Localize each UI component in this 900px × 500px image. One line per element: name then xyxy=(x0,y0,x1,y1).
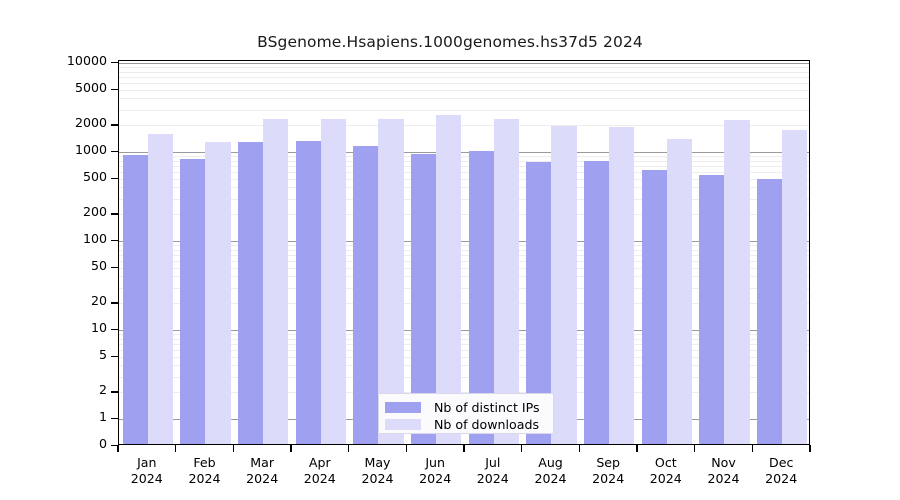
legend-label-downloads: Nb of downloads xyxy=(434,417,539,432)
legend-item-distinct-ips: Nb of distinct IPs xyxy=(385,399,553,415)
bar-group-mar xyxy=(238,61,288,444)
y-tick-mark xyxy=(111,240,118,241)
y-tick-mark xyxy=(111,124,118,125)
legend-item-downloads: Nb of downloads xyxy=(385,416,553,432)
y-tick-label: 2 xyxy=(99,382,107,397)
chart-legend: Nb of distinct IPs Nb of downloads xyxy=(378,393,554,434)
y-tick-label: 1000 xyxy=(75,142,107,157)
bar-downloads xyxy=(724,120,749,444)
bar-group-jan xyxy=(123,61,173,444)
y-tick-label: 20 xyxy=(91,293,107,308)
bar-distinct-ips xyxy=(757,179,782,444)
bar-group-sep xyxy=(584,61,634,444)
y-tick-mark xyxy=(111,178,118,179)
legend-swatch-icon-downloads xyxy=(385,419,421,430)
bar-downloads xyxy=(551,126,576,444)
bar-distinct-ips xyxy=(642,170,667,444)
bar-distinct-ips xyxy=(699,175,724,445)
bar-distinct-ips xyxy=(353,146,378,444)
bar-downloads xyxy=(782,130,807,444)
x-tick-label-month: Dec xyxy=(741,455,821,471)
y-tick-mark xyxy=(111,391,118,392)
x-tick-mark xyxy=(521,445,522,452)
x-tick-mark xyxy=(752,445,753,452)
bar-distinct-ips xyxy=(584,161,609,444)
bar-group-jul xyxy=(469,61,519,444)
x-tick-mark xyxy=(406,445,407,452)
chart-figure: BSgenome.Hsapiens.1000genomes.hs37d5 202… xyxy=(0,0,900,500)
bar-group-jun xyxy=(411,61,461,444)
bar-distinct-ips xyxy=(180,159,205,444)
y-tick-mark xyxy=(111,62,118,63)
y-tick-mark xyxy=(111,89,118,90)
plot-area xyxy=(118,60,810,445)
bar-downloads xyxy=(205,142,230,444)
x-tick-mark xyxy=(117,445,118,452)
bar-group-nov xyxy=(699,61,749,444)
x-tick-mark xyxy=(290,445,291,452)
x-axis: Jan2024Feb2024Mar2024Apr2024May2024Jun20… xyxy=(118,445,810,500)
bar-group-aug xyxy=(526,61,576,444)
legend-label-distinct-ips: Nb of distinct IPs xyxy=(434,400,540,415)
y-tick-label: 10 xyxy=(91,320,107,335)
bar-downloads xyxy=(667,139,692,444)
y-tick-label: 200 xyxy=(83,204,107,219)
x-tick-label-year: 2024 xyxy=(741,471,821,487)
y-tick-mark xyxy=(111,267,118,268)
page-title: BSgenome.Hsapiens.1000genomes.hs37d5 202… xyxy=(0,33,900,51)
x-tick-mark xyxy=(636,445,637,452)
bar-group-dec xyxy=(757,61,807,444)
y-tick-label: 2000 xyxy=(75,115,107,130)
y-tick-label: 5000 xyxy=(75,80,107,95)
bar-downloads xyxy=(263,119,288,444)
legend-swatch-icon-distinct-ips xyxy=(385,402,421,413)
x-tick-mark xyxy=(463,445,464,452)
x-tick-mark xyxy=(809,445,810,452)
y-tick-label: 500 xyxy=(83,169,107,184)
bar-downloads xyxy=(609,127,634,444)
bars-layer xyxy=(119,61,809,444)
y-tick-mark xyxy=(111,213,118,214)
bar-distinct-ips xyxy=(296,141,321,444)
x-tick-label: Dec2024 xyxy=(741,455,821,486)
x-tick-mark xyxy=(175,445,176,452)
bar-downloads xyxy=(321,119,346,444)
x-tick-mark xyxy=(694,445,695,452)
bar-group-feb xyxy=(180,61,230,444)
y-tick-mark xyxy=(111,356,118,357)
y-tick-label: 1 xyxy=(99,409,107,424)
y-tick-label: 10000 xyxy=(67,53,107,68)
bar-group-apr xyxy=(296,61,346,444)
bar-distinct-ips xyxy=(238,142,263,444)
bar-group-may xyxy=(353,61,403,444)
y-tick-label: 50 xyxy=(91,258,107,273)
x-tick-mark xyxy=(348,445,349,452)
y-axis: 100005000200010005002001005020105210 xyxy=(0,60,118,445)
y-tick-mark xyxy=(111,329,118,330)
y-tick-mark xyxy=(111,418,118,419)
y-tick-mark xyxy=(111,151,118,152)
bar-downloads xyxy=(148,134,173,444)
x-tick-mark xyxy=(233,445,234,452)
y-tick-label: 100 xyxy=(83,231,107,246)
y-tick-label: 5 xyxy=(99,347,107,362)
y-tick-mark xyxy=(111,302,118,303)
y-tick-label: 0 xyxy=(99,436,107,451)
x-tick-mark xyxy=(579,445,580,452)
bar-distinct-ips xyxy=(123,155,148,444)
bar-group-oct xyxy=(642,61,692,444)
